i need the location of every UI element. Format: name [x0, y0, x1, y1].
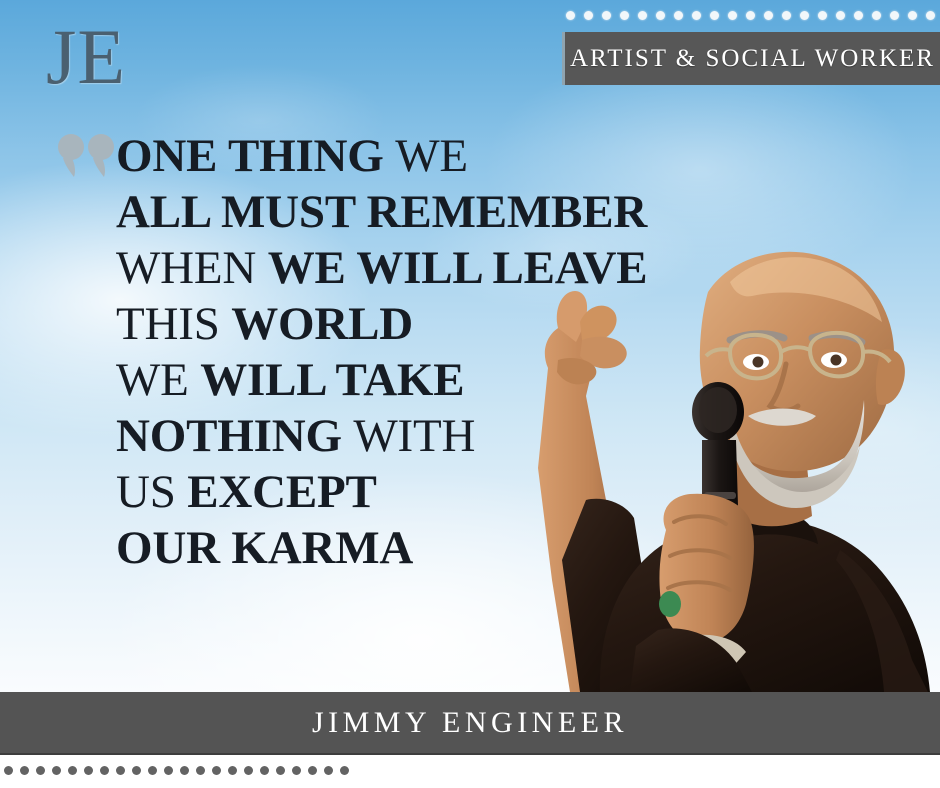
decor-dot [116, 766, 125, 775]
decor-dot [228, 766, 237, 775]
decor-dot [164, 766, 173, 775]
quote-line-1: ONE THING WE [116, 128, 716, 184]
role-banner: ARTIST & SOCIAL WORKER [562, 32, 940, 85]
decor-dot [818, 11, 827, 20]
decor-dot [674, 11, 683, 20]
quote-segment-5-2: WILL TAKE [200, 354, 464, 406]
decor-dot [84, 766, 93, 775]
decor-dot [854, 11, 863, 20]
quote-segment-5-1: WE [116, 354, 200, 406]
quote-segment-6-1: NOTHING [116, 410, 353, 462]
decor-dot [926, 11, 935, 20]
pupil-right [831, 355, 842, 366]
quote-segment-3-1: WHEN [116, 242, 268, 294]
decor-dot [308, 766, 317, 775]
decor-dot [52, 766, 61, 775]
quote-line-8: OUR KARMA [116, 520, 716, 576]
decor-dot [148, 766, 157, 775]
green-ring [659, 591, 681, 617]
decor-dot [890, 11, 899, 20]
quote-segment-3-2: WE WILL LEAVE [268, 242, 648, 294]
je-monogram-logo: JE [46, 18, 126, 96]
quote-segment-1-2: WE [395, 130, 468, 182]
decor-dot [746, 11, 755, 20]
decor-dot [908, 11, 917, 20]
top-dot-decoration [566, 4, 940, 26]
decor-dot [132, 766, 141, 775]
quote-segment-1-1: ONE THING [116, 130, 395, 182]
quote-segment-7-2: EXCEPT [187, 466, 376, 518]
decor-dot [728, 11, 737, 20]
speaker-name: JIMMY ENGINEER [312, 706, 628, 740]
decor-dot [276, 766, 285, 775]
decor-dot [638, 11, 647, 20]
pupil-left [753, 357, 764, 368]
quote-segment-4-1: THIS [116, 298, 231, 350]
bottom-dot-decoration [4, 760, 344, 780]
decor-dot [602, 11, 611, 20]
quote-segment-8-1: OUR KARMA [116, 522, 413, 574]
quotation-mark-icon [58, 134, 118, 178]
quote-line-3: WHEN WE WILL LEAVE [116, 240, 716, 296]
decor-dot [100, 766, 109, 775]
name-footer-bar: JIMMY ENGINEER [0, 692, 940, 755]
decor-dot [764, 11, 773, 20]
decor-dot [340, 766, 349, 775]
quote-line-7: US EXCEPT [116, 464, 716, 520]
decor-dot [656, 11, 665, 20]
decor-dot [836, 11, 845, 20]
decor-dot [710, 11, 719, 20]
quote-text: ONE THING WEALL MUST REMEMBERWHEN WE WIL… [116, 128, 716, 576]
quote-line-6: NOTHING WITH [116, 408, 716, 464]
decor-dot [782, 11, 791, 20]
decor-dot [292, 766, 301, 775]
decor-dot [20, 766, 29, 775]
decor-dot [872, 11, 881, 20]
decor-dot [36, 766, 45, 775]
decor-dot [4, 766, 13, 775]
decor-dot [324, 766, 333, 775]
quote-line-5: WE WILL TAKE [116, 352, 716, 408]
quote-line-4: THIS WORLD [116, 296, 716, 352]
decor-dot [68, 766, 77, 775]
quote-segment-7-1: US [116, 466, 187, 518]
quote-segment-2-1: ALL MUST REMEMBER [116, 186, 647, 238]
decor-dot [620, 11, 629, 20]
decor-dot [692, 11, 701, 20]
decor-dot [180, 766, 189, 775]
quote-segment-6-2: WITH [353, 410, 475, 462]
ear [876, 349, 905, 405]
decor-dot [212, 766, 221, 775]
quote-line-2: ALL MUST REMEMBER [116, 184, 716, 240]
decor-dot [584, 11, 593, 20]
quote-poster: ARTIST & SOCIAL WORKER JE ONE THING WEAL… [0, 0, 940, 788]
decor-dot [800, 11, 809, 20]
role-banner-label: ARTIST & SOCIAL WORKER [570, 45, 935, 73]
decor-dot [244, 766, 253, 775]
decor-dot [566, 11, 575, 20]
decor-dot [260, 766, 269, 775]
quote-segment-4-2: WORLD [231, 298, 413, 350]
decor-dot [196, 766, 205, 775]
